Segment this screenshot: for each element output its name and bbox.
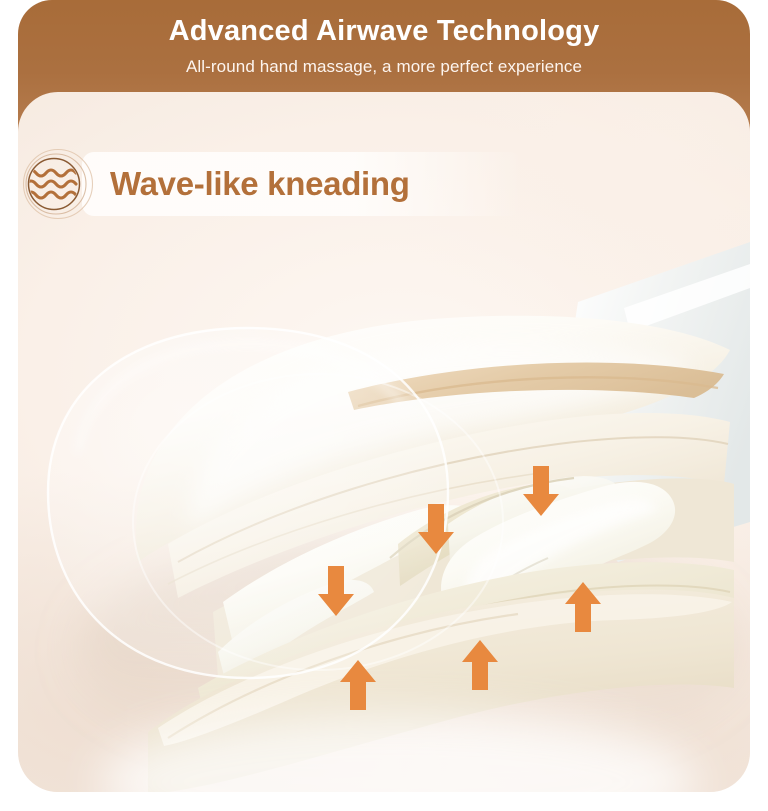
product-feature-card: Advanced Airwave Technology All-round ha… <box>0 0 768 811</box>
page-subtitle: All-round hand massage, a more perfect e… <box>18 57 750 77</box>
glass-overlay-group <box>48 328 448 678</box>
feature-badge-label: Wave-like kneading <box>110 165 410 203</box>
wave-lines-circle-icon <box>22 148 94 220</box>
glass-overlay <box>48 328 448 678</box>
feature-badge: Wave-like kneading <box>22 148 410 220</box>
page-title: Advanced Airwave Technology <box>18 15 750 48</box>
